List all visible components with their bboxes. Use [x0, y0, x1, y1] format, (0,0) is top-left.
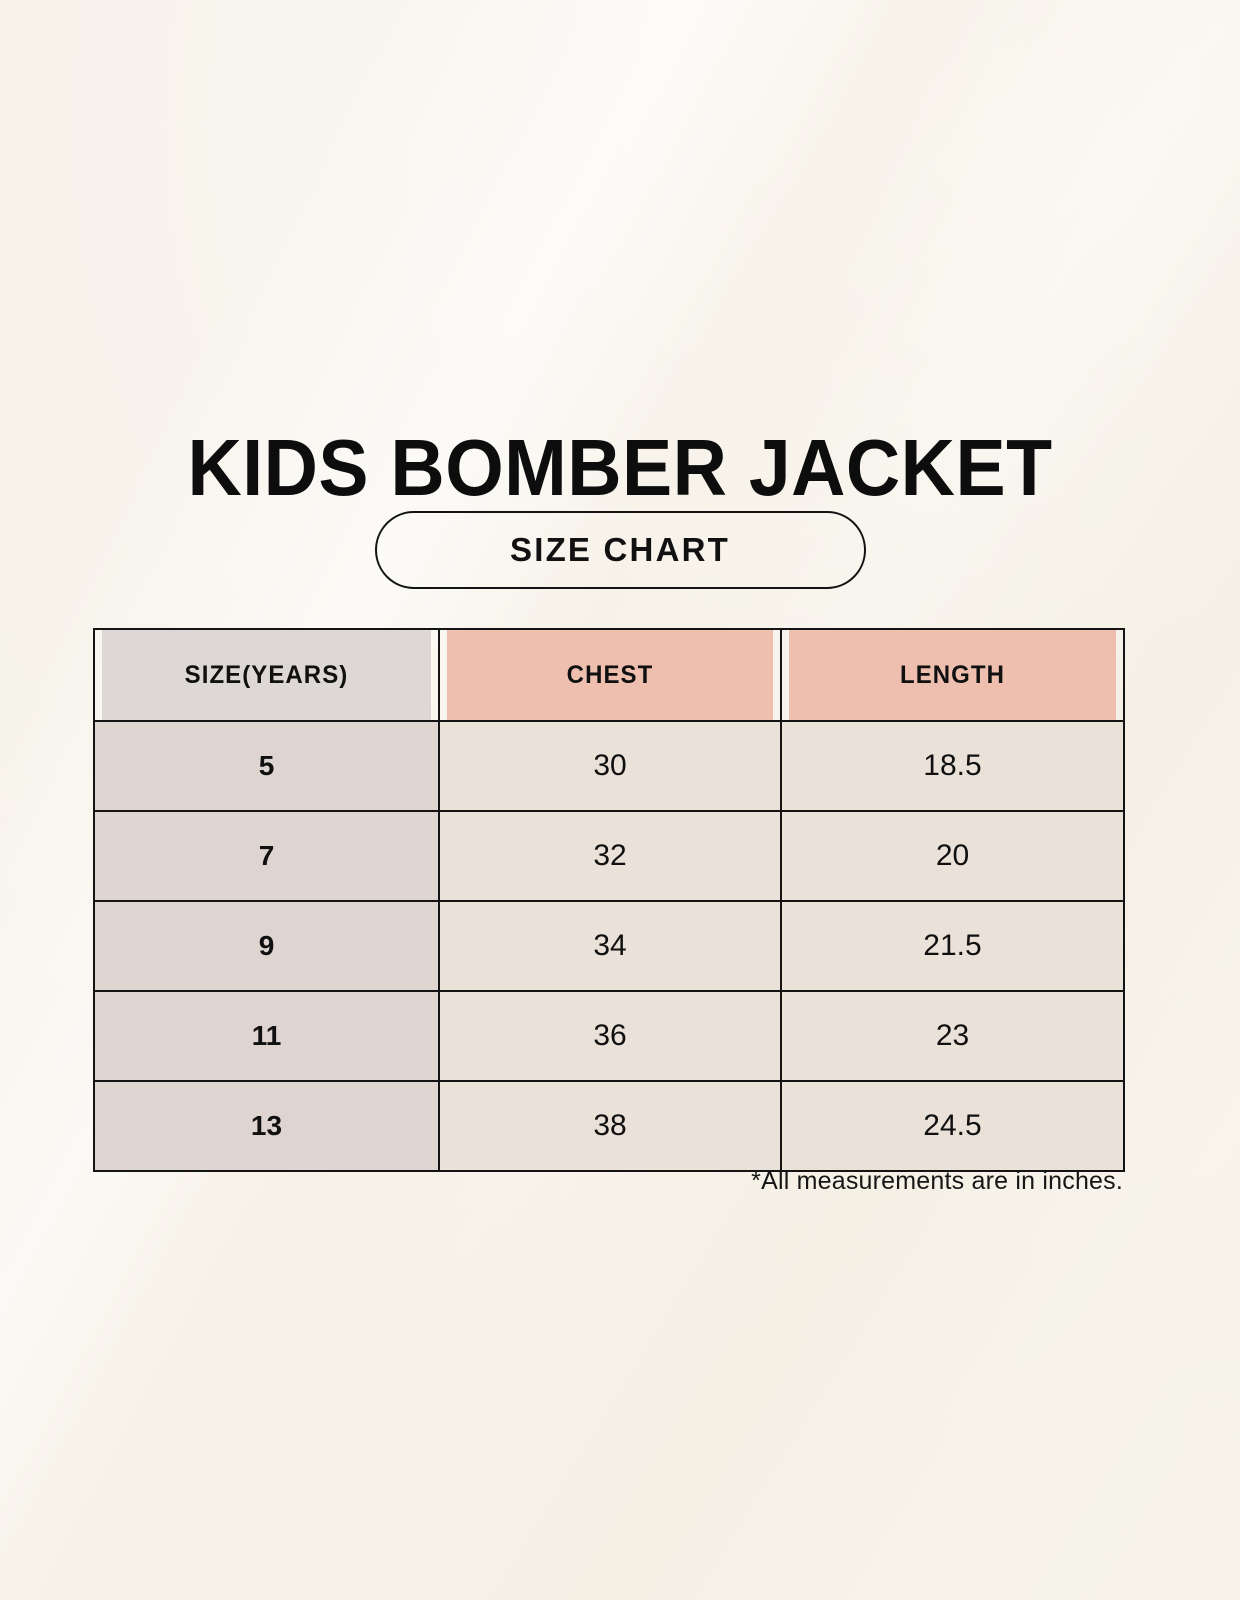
table-header: SIZE(YEARS) CHEST LENGTH	[94, 629, 1124, 721]
cell-size: 5	[94, 721, 439, 811]
table-body: 5 30 18.5 7 32 20 9 34 21.5 11 36 23	[94, 721, 1124, 1171]
cell-chest: 34	[439, 901, 781, 991]
table-row: 9 34 21.5	[94, 901, 1124, 991]
cell-chest: 30	[439, 721, 781, 811]
cell-size: 7	[94, 811, 439, 901]
column-header-length: LENGTH	[788, 629, 1117, 721]
cell-length: 21.5	[781, 901, 1124, 991]
table-row: 11 36 23	[94, 991, 1124, 1081]
cell-size: 13	[94, 1081, 439, 1171]
table-row: 7 32 20	[94, 811, 1124, 901]
cell-length: 24.5	[781, 1081, 1124, 1171]
size-table: SIZE(YEARS) CHEST LENGTH 5 30 18.5 7 32 …	[93, 628, 1125, 1172]
cell-size: 9	[94, 901, 439, 991]
table-header-row: SIZE(YEARS) CHEST LENGTH	[94, 629, 1124, 721]
table-row: 13 38 24.5	[94, 1081, 1124, 1171]
table-row: 5 30 18.5	[94, 721, 1124, 811]
size-table-container: SIZE(YEARS) CHEST LENGTH 5 30 18.5 7 32 …	[93, 628, 1123, 1172]
column-header-chest: CHEST	[446, 629, 774, 721]
cell-length: 18.5	[781, 721, 1124, 811]
badge-container: SIZE CHART	[0, 511, 1240, 589]
cell-chest: 38	[439, 1081, 781, 1171]
cell-chest: 36	[439, 991, 781, 1081]
page-title: KIDS BOMBER JACKET	[37, 426, 1203, 510]
column-header-size: SIZE(YEARS)	[101, 629, 432, 721]
measurement-note: *All measurements are in inches.	[93, 1167, 1123, 1196]
cell-chest: 32	[439, 811, 781, 901]
size-chart-badge: SIZE CHART	[375, 511, 866, 589]
cell-size: 11	[94, 991, 439, 1081]
cell-length: 23	[781, 991, 1124, 1081]
cell-length: 20	[781, 811, 1124, 901]
size-chart-page: KIDS BOMBER JACKET SIZE CHART SIZE(YEARS…	[0, 0, 1240, 1600]
